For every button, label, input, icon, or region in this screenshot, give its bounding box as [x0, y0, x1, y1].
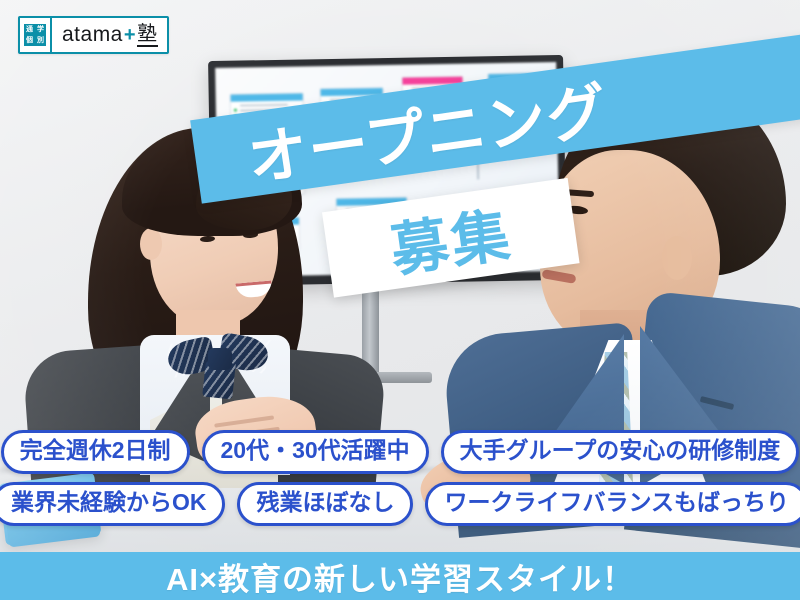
student-ribbon-tie: [168, 330, 272, 396]
benefit-tag[interactable]: ワークライフバランスもばっちり: [425, 482, 800, 526]
badge-char-3: 個: [26, 37, 33, 44]
student-ear: [140, 228, 162, 260]
logo-wordmark: atama + 塾: [52, 18, 167, 52]
badge-char-4: 別: [37, 37, 44, 44]
badge-char-1: 通: [26, 26, 33, 33]
recruitment-poster: 通 学 個 別 atama + 塾 オープニング 募集 完全週休2日制 20代・…: [0, 0, 800, 600]
badge-char-2: 学: [37, 26, 44, 33]
benefit-tag[interactable]: 大手グループの安心の研修制度: [441, 430, 800, 474]
subline-text: 募集: [385, 188, 518, 288]
benefit-tag[interactable]: 完全週休2日制: [1, 430, 190, 474]
benefit-tag[interactable]: 残業ほぼなし: [237, 482, 413, 526]
benefit-tag[interactable]: 20代・30代活躍中: [202, 430, 429, 474]
tag-row-2: 業界未経験からOK 残業ほぼなし ワークライフバランスもばっちり: [0, 482, 800, 526]
tagline-bar: AI×教育の新しい学習スタイル！: [0, 552, 800, 600]
logo-juku-text: 塾: [137, 24, 158, 47]
tag-row-1: 完全週休2日制 20代・30代活躍中 大手グループの安心の研修制度: [0, 430, 800, 474]
benefit-tag[interactable]: 業界未経験からOK: [0, 482, 225, 526]
benefit-tag-list: 完全週休2日制 20代・30代活躍中 大手グループの安心の研修制度 業界未経験か…: [0, 430, 800, 526]
instructor-ear: [662, 236, 692, 280]
logo-badge: 通 学 個 別: [20, 18, 52, 52]
logo-plus-icon: +: [124, 24, 136, 47]
brand-logo[interactable]: 通 学 個 別 atama + 塾: [18, 16, 169, 54]
logo-atama-text: atama: [62, 23, 123, 47]
tagline-text: AI×教育の新しい学習スタイル！: [166, 554, 634, 599]
logo-badge-kanji: 通 学 個 別: [24, 24, 46, 46]
